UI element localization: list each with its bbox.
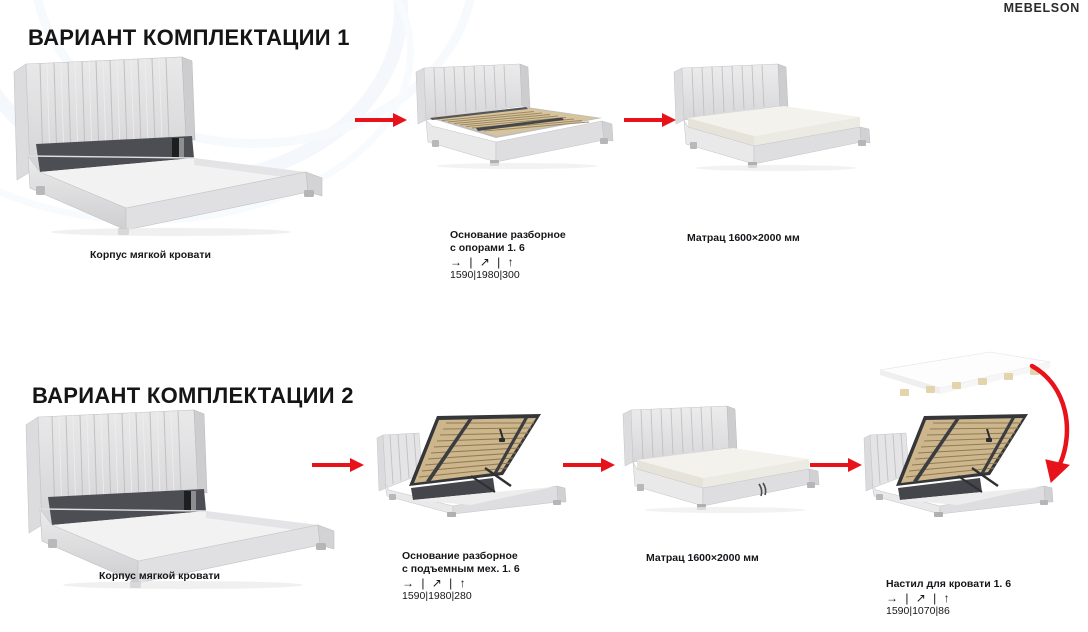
caption-lift-base-v2: Основание разборное с подъемным мех. 1. …: [402, 550, 520, 603]
arrow-2-1: [312, 460, 364, 470]
bed-frame-illustration-v1: [6, 52, 336, 237]
caption-lift-base-v2-line1: Основание разборное: [402, 550, 518, 562]
bed-mattress-illustration-v1: [668, 62, 873, 177]
arrow-2-2: [563, 460, 615, 470]
poster-canvas: MEBELSON ВАРИАНТ КОМПЛЕКТАЦИИ 1: [0, 0, 1088, 632]
arrow-2-3: [810, 460, 862, 470]
dimension-arrows-base-v1: → | ↗ | ↑: [450, 255, 566, 269]
caption-base-v1-line2: с опорами 1. 6: [450, 242, 525, 254]
caption-frame-v1: Корпус мягкой кровати: [90, 249, 211, 262]
dimension-values-decking-v2: 1590|1070|86: [886, 605, 1011, 618]
bed-frame-illustration-v2: [18, 405, 348, 590]
arrow-1-1: [355, 115, 407, 125]
bed-mattress-illustration-v2: [617, 404, 822, 519]
caption-decking-v2-line1: Настил для кровати 1. 6: [886, 578, 1011, 590]
bed-lifted-base-illustration-v2: [375, 392, 575, 517]
caption-lift-base-v2-line2: с подъемным мех. 1. 6: [402, 563, 520, 575]
bed-slatted-base-illustration-v1: [412, 62, 617, 177]
caption-base-v1: Основание разборное с опорами 1. 6 → | ↗…: [450, 229, 566, 282]
caption-base-v1-line1: Основание разборное: [450, 229, 566, 241]
caption-mattress-v1: Матрац 1600×2000 мм: [687, 232, 800, 245]
curved-drop-arrow: [1020, 360, 1088, 505]
dimension-arrows-lift-base-v2: → | ↗ | ↑: [402, 576, 520, 590]
brand-logo: MEBELSON: [1004, 1, 1080, 15]
caption-mattress-v2: Матрац 1600×2000 мм: [646, 552, 759, 565]
caption-decking-v2: Настил для кровати 1. 6 → | ↗ | ↑ 1590|1…: [886, 578, 1011, 618]
dimension-arrows-decking-v2: → | ↗ | ↑: [886, 591, 1011, 605]
dimension-values-lift-base-v2: 1590|1980|280: [402, 590, 520, 603]
caption-frame-v2: Корпус мягкой кровати: [99, 570, 220, 583]
dimension-values-base-v1: 1590|1980|300: [450, 269, 566, 282]
section-title-variant-1: ВАРИАНТ КОМПЛЕКТАЦИИ 1: [28, 25, 350, 51]
